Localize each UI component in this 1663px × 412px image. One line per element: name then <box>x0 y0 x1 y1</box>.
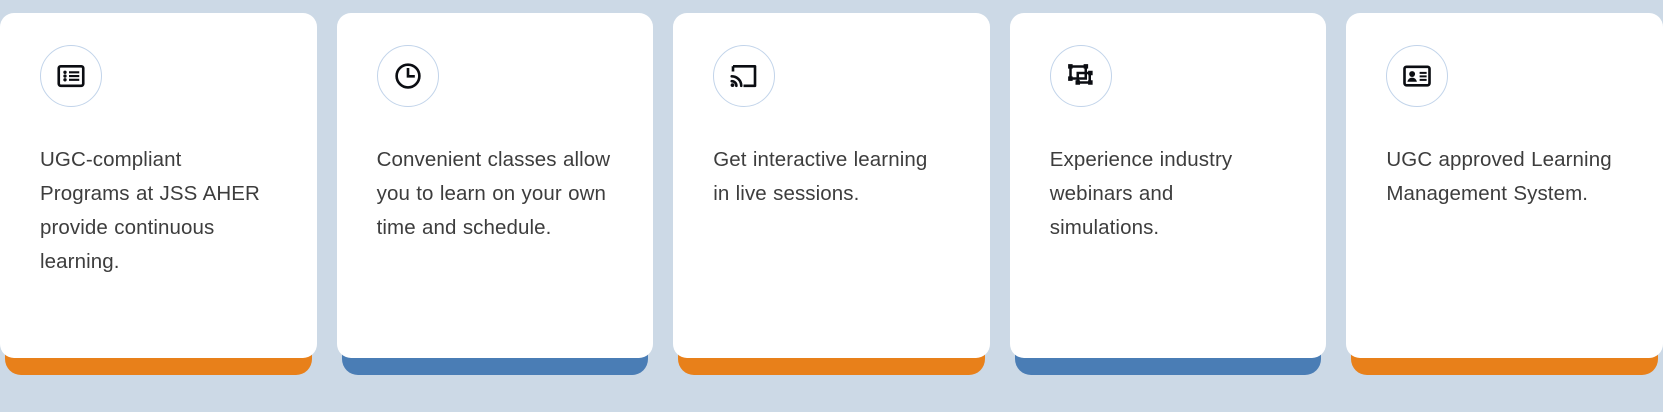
card-text-2: Convenient classes allow you to learn on… <box>377 143 614 245</box>
card-text-5: UGC approved Learning Management System. <box>1386 143 1623 211</box>
card-surface-3[interactable]: Get interactive learning in live session… <box>673 13 990 358</box>
id-card-icon <box>1386 45 1448 107</box>
artboard-select-icon <box>1050 45 1112 107</box>
feature-card-3[interactable]: Get interactive learning in live session… <box>673 13 990 375</box>
card-text-4: Experience industry webinars and simulat… <box>1050 143 1287 245</box>
feature-card-1[interactable]: UGC-compliant Programs at JSS AHER provi… <box>0 13 317 375</box>
card-surface-2[interactable]: Convenient classes allow you to learn on… <box>337 13 654 358</box>
feature-card-4[interactable]: Experience industry webinars and simulat… <box>1010 13 1327 375</box>
feature-cards-row: UGC-compliant Programs at JSS AHER provi… <box>0 0 1663 412</box>
view-list-icon <box>40 45 102 107</box>
feature-card-2[interactable]: Convenient classes allow you to learn on… <box>337 13 654 375</box>
feature-card-5[interactable]: UGC approved Learning Management System. <box>1346 13 1663 375</box>
card-surface-4[interactable]: Experience industry webinars and simulat… <box>1010 13 1327 358</box>
clock-icon <box>377 45 439 107</box>
card-surface-5[interactable]: UGC approved Learning Management System. <box>1346 13 1663 358</box>
card-surface-1[interactable]: UGC-compliant Programs at JSS AHER provi… <box>0 13 317 358</box>
card-text-3: Get interactive learning in live session… <box>713 143 950 211</box>
cast-icon <box>713 45 775 107</box>
card-text-1: UGC-compliant Programs at JSS AHER provi… <box>40 143 277 279</box>
